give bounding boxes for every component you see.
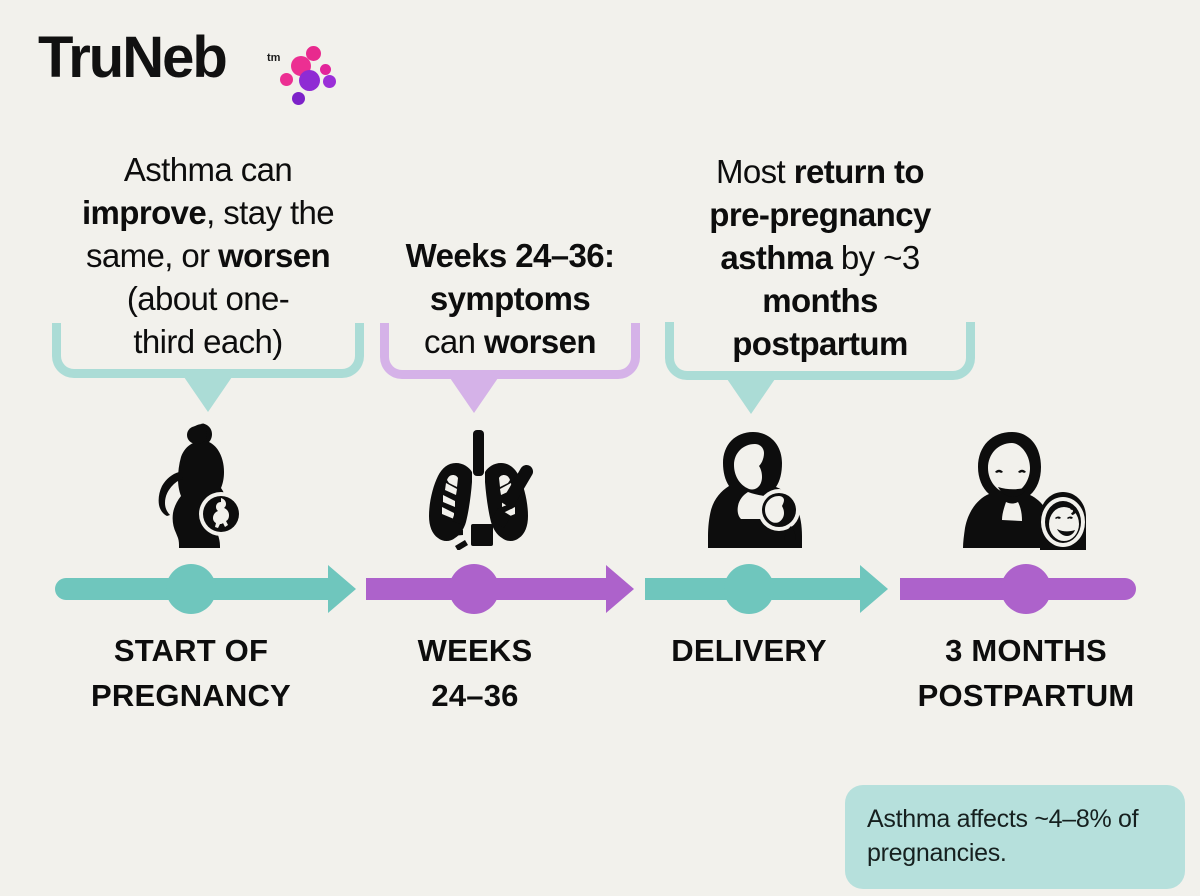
lungs-inhaler-icon [409,428,557,550]
stage-label-three-months-postpartum: 3 MONTHS POSTPARTUM [881,628,1171,718]
stage-label-line2: PREGNANCY [41,673,341,718]
callout-weeks-worsen-bracket [380,323,640,379]
logo-wordmark: TruNeb [38,22,226,94]
timeline-segment-weeks-24-36 [366,564,634,614]
timeline-segment-delivery [645,564,888,614]
mother-and-baby-icon [962,430,1094,550]
icon-slot-mother-and-baby [960,428,1095,550]
stage-label-line1: WEEKS [355,628,595,673]
timeline-node-weeks-24-36 [449,564,499,614]
stage-label-line2: 24–36 [355,673,595,718]
timeline-segment-three-months-postpartum [900,564,1136,614]
stage-label-line2: POSTPARTUM [881,673,1171,718]
stage-label-weeks-24-36: WEEKS 24–36 [355,628,595,718]
callout-postpartum-return: Most return topre-pregnancyasthma by ~3m… [665,150,975,430]
callout-postpartum-return-pointer [727,379,775,414]
timeline [0,558,1200,620]
stage-label-line1: DELIVERY [629,628,869,673]
logo-dot-cluster-icon [280,42,336,110]
icon-slot-pregnant-woman [140,420,270,550]
footer-note-text: Asthma affects ~4–8% of pregnancies. [867,805,1138,867]
logo-dot [323,75,336,88]
trademark-symbol: tm [267,52,280,64]
pregnant-woman-icon [151,422,259,550]
callout-weeks-worsen: Weeks 24–36:symptomscan worsen [380,234,640,434]
nursing-mother-icon [699,430,811,550]
stage-label-line1: 3 MONTHS [881,628,1171,673]
timeline-node-start-of-pregnancy [166,564,216,614]
logo-dot [280,73,293,86]
callout-postpartum-return-bracket [665,322,975,380]
callout-asthma-variability-pointer [184,377,232,412]
icon-slot-lungs-inhaler [408,425,558,550]
footer-note: Asthma affects ~4–8% of pregnancies. [845,785,1185,889]
callout-weeks-worsen-pointer [450,378,498,413]
stage-label-line1: START OF [41,628,341,673]
logo-dot [299,70,320,91]
truneb-logo: TruNeb tm [38,22,328,94]
timeline-node-three-months-postpartum [1001,564,1051,614]
stage-label-delivery: DELIVERY [629,628,869,673]
callout-asthma-variability: Asthma can improve, stay thesame, or wor… [52,148,364,428]
logo-dot [320,64,331,75]
stage-label-start-of-pregnancy: START OF PREGNANCY [41,628,341,718]
timeline-segment-start-of-pregnancy [55,564,356,614]
callout-asthma-variability-bracket [52,323,364,378]
timeline-node-delivery [724,564,774,614]
icon-slot-nursing-mother [695,428,815,550]
logo-dot [292,92,305,105]
